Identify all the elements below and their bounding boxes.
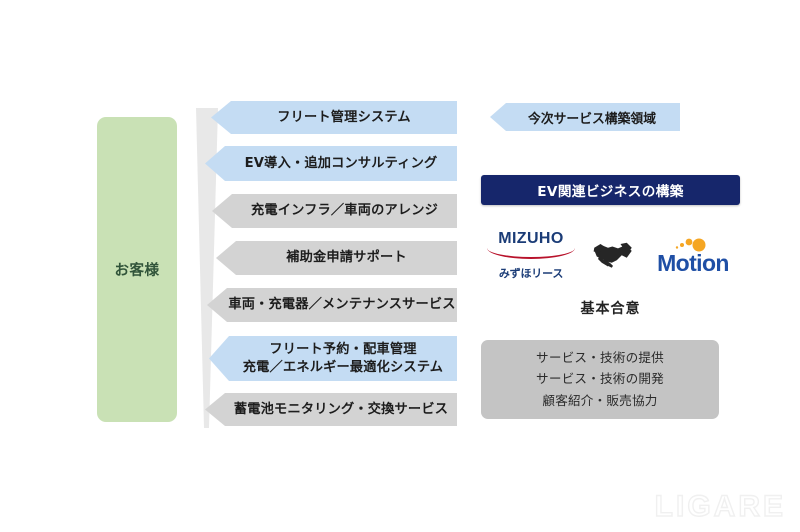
- mizuho-logo: MIZUHO みずほリース: [481, 230, 581, 281]
- service-arrow-subsidy-application-support[interactable]: 補助金申請サポート: [216, 241, 457, 275]
- ligare-watermark: LIGARE: [655, 490, 786, 524]
- service-arrow-vehicle-charger-maintenance-service[interactable]: 車両・充電器／メンテナンスサービス: [207, 288, 457, 322]
- service-arrow-battery-monitoring-exchange-service[interactable]: 蓄電池モニタリング・交換サービス: [205, 393, 457, 426]
- service-arrow-ev-introduction-consulting[interactable]: EV導入・追加コンサルティング: [205, 146, 457, 181]
- customer-box: お客様: [97, 117, 177, 422]
- service-arrow-label: フリート管理システム: [277, 109, 410, 127]
- collaboration-item: サービス・技術の開発: [536, 373, 664, 386]
- basic-agreement-label: 基本合意: [481, 298, 740, 318]
- banner-label: EV関連ビジネスの構築: [537, 180, 684, 200]
- service-arrow-label: EV導入・追加コンサルティング: [245, 155, 438, 173]
- legend-arrow-new-service-area: 今次サービス構築領域: [490, 103, 680, 131]
- motion-wordmark: Motion: [643, 252, 743, 275]
- service-arrow-charging-infra-vehicle-arrangement[interactable]: 充電インフラ／車両のアレンジ: [212, 194, 457, 228]
- collaboration-card: サービス・技術の提供 サービス・技術の開発 顧客紹介・販売協力: [481, 340, 719, 419]
- ev-business-banner: EV関連ビジネスの構築: [481, 175, 740, 205]
- partner-logos: MIZUHO みずほリース Motion: [481, 228, 740, 288]
- customer-label: お客様: [115, 259, 160, 280]
- collaboration-item: サービス・技術の提供: [536, 352, 664, 365]
- service-arrow-label: 蓄電池モニタリング・交換サービス: [234, 401, 448, 419]
- service-arrow-label: 車両・充電器／メンテナンスサービス: [228, 296, 455, 314]
- collaboration-item: 顧客紹介・販売協力: [542, 395, 657, 408]
- service-arrow-label: フリート予約・配車管理 充電／エネルギー最適化システム: [243, 341, 443, 377]
- mizuho-swoosh-icon: [487, 248, 575, 259]
- legend-label: 今次サービス構築領域: [528, 108, 656, 127]
- service-arrow-label: 充電インフラ／車両のアレンジ: [251, 202, 438, 220]
- handshake-icon: [587, 238, 639, 274]
- service-arrow-label: 補助金申請サポート: [286, 249, 407, 267]
- slide-canvas: お客様 フリート管理システム EV導入・追加コンサルティング 充電インフラ／車両…: [0, 0, 800, 532]
- service-arrow-fleet-reservation-energy-optimization[interactable]: フリート予約・配車管理 充電／エネルギー最適化システム: [209, 336, 457, 381]
- mizuho-lease-label: みずほリース: [481, 265, 581, 281]
- service-arrow-fleet-management-system[interactable]: フリート管理システム: [211, 101, 457, 134]
- motion-logo: Motion: [643, 232, 743, 275]
- mizuho-wordmark: MIZUHO: [481, 230, 581, 248]
